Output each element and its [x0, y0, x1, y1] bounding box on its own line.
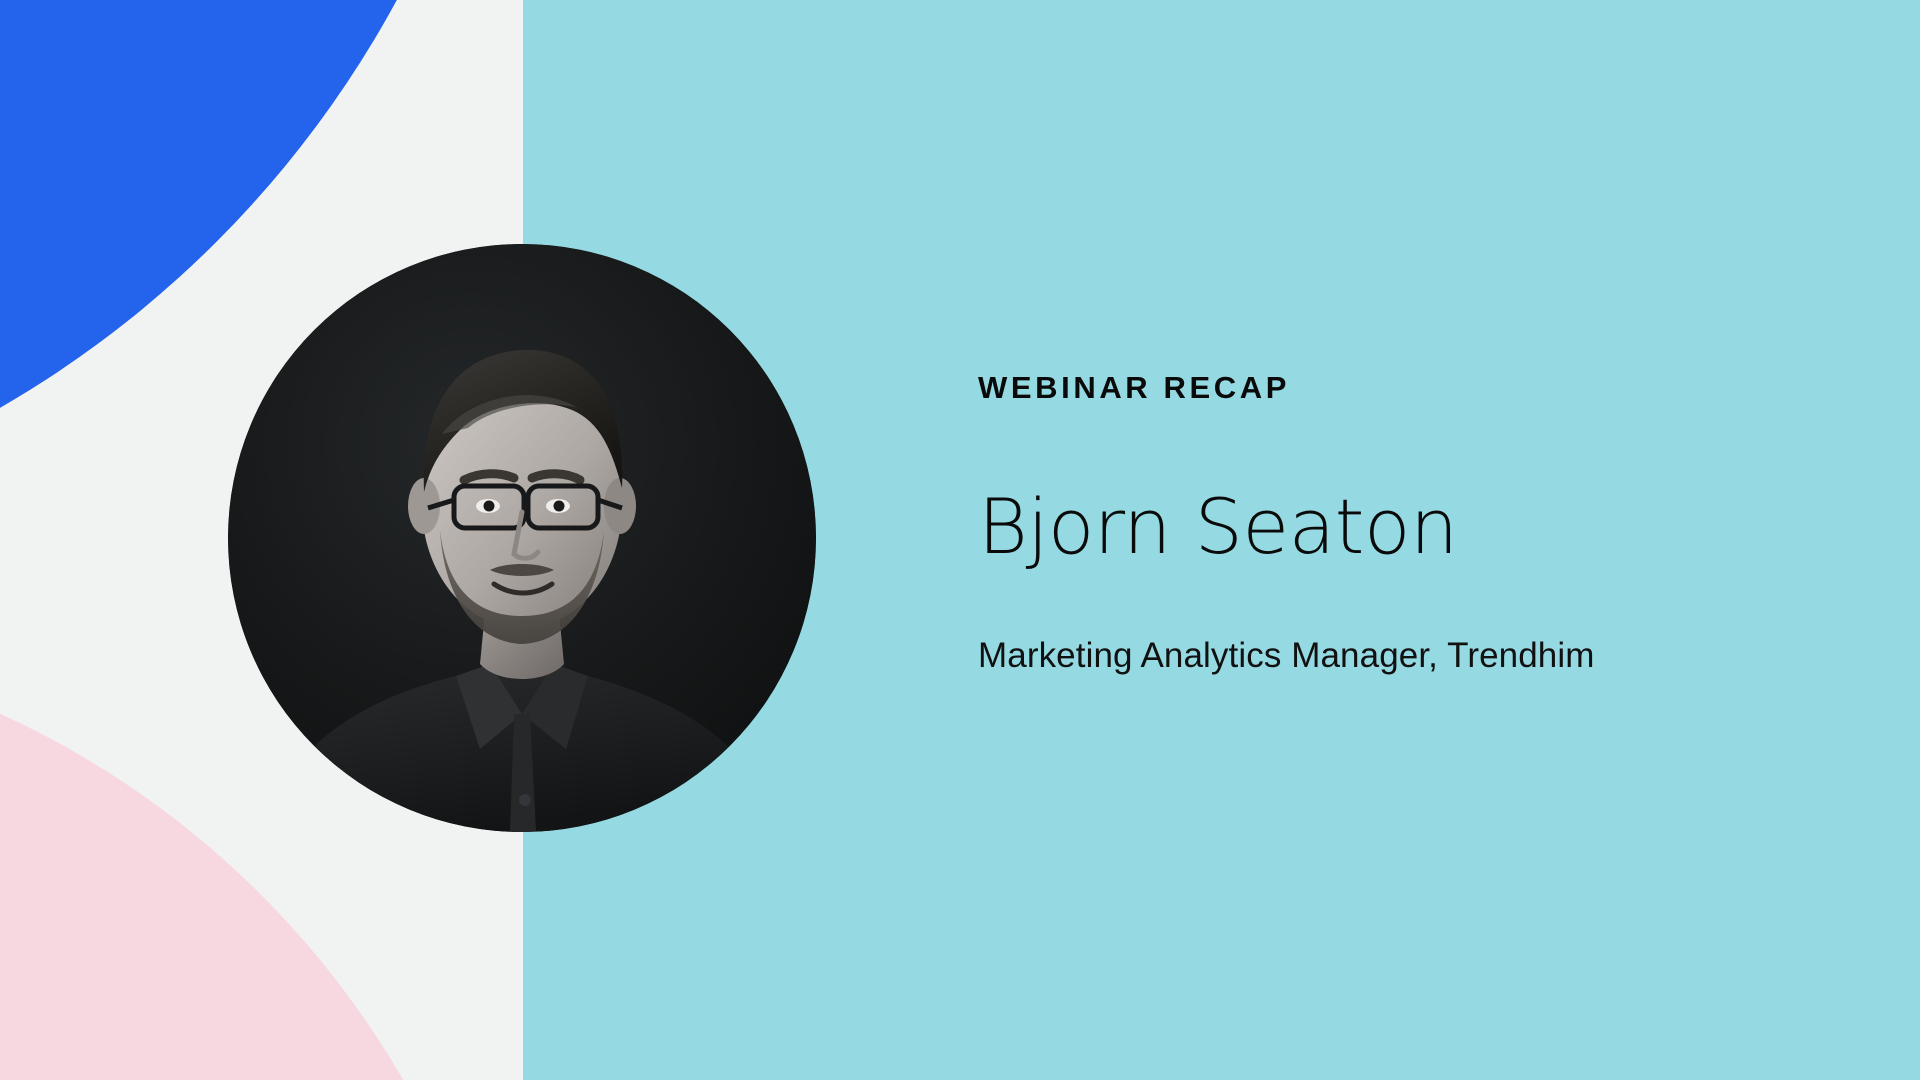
eyebrow-label: WEBINAR RECAP — [978, 372, 1808, 403]
speaker-name: Bjorn Seaton — [978, 489, 1808, 565]
speaker-text-block: WEBINAR RECAP Bjorn Seaton Marketing Ana… — [978, 372, 1808, 673]
speaker-role: Marketing Analytics Manager, Trendhim — [978, 638, 1808, 673]
webinar-recap-slide: WEBINAR RECAP Bjorn Seaton Marketing Ana… — [0, 0, 1920, 1080]
speaker-portrait-avatar — [228, 244, 816, 832]
